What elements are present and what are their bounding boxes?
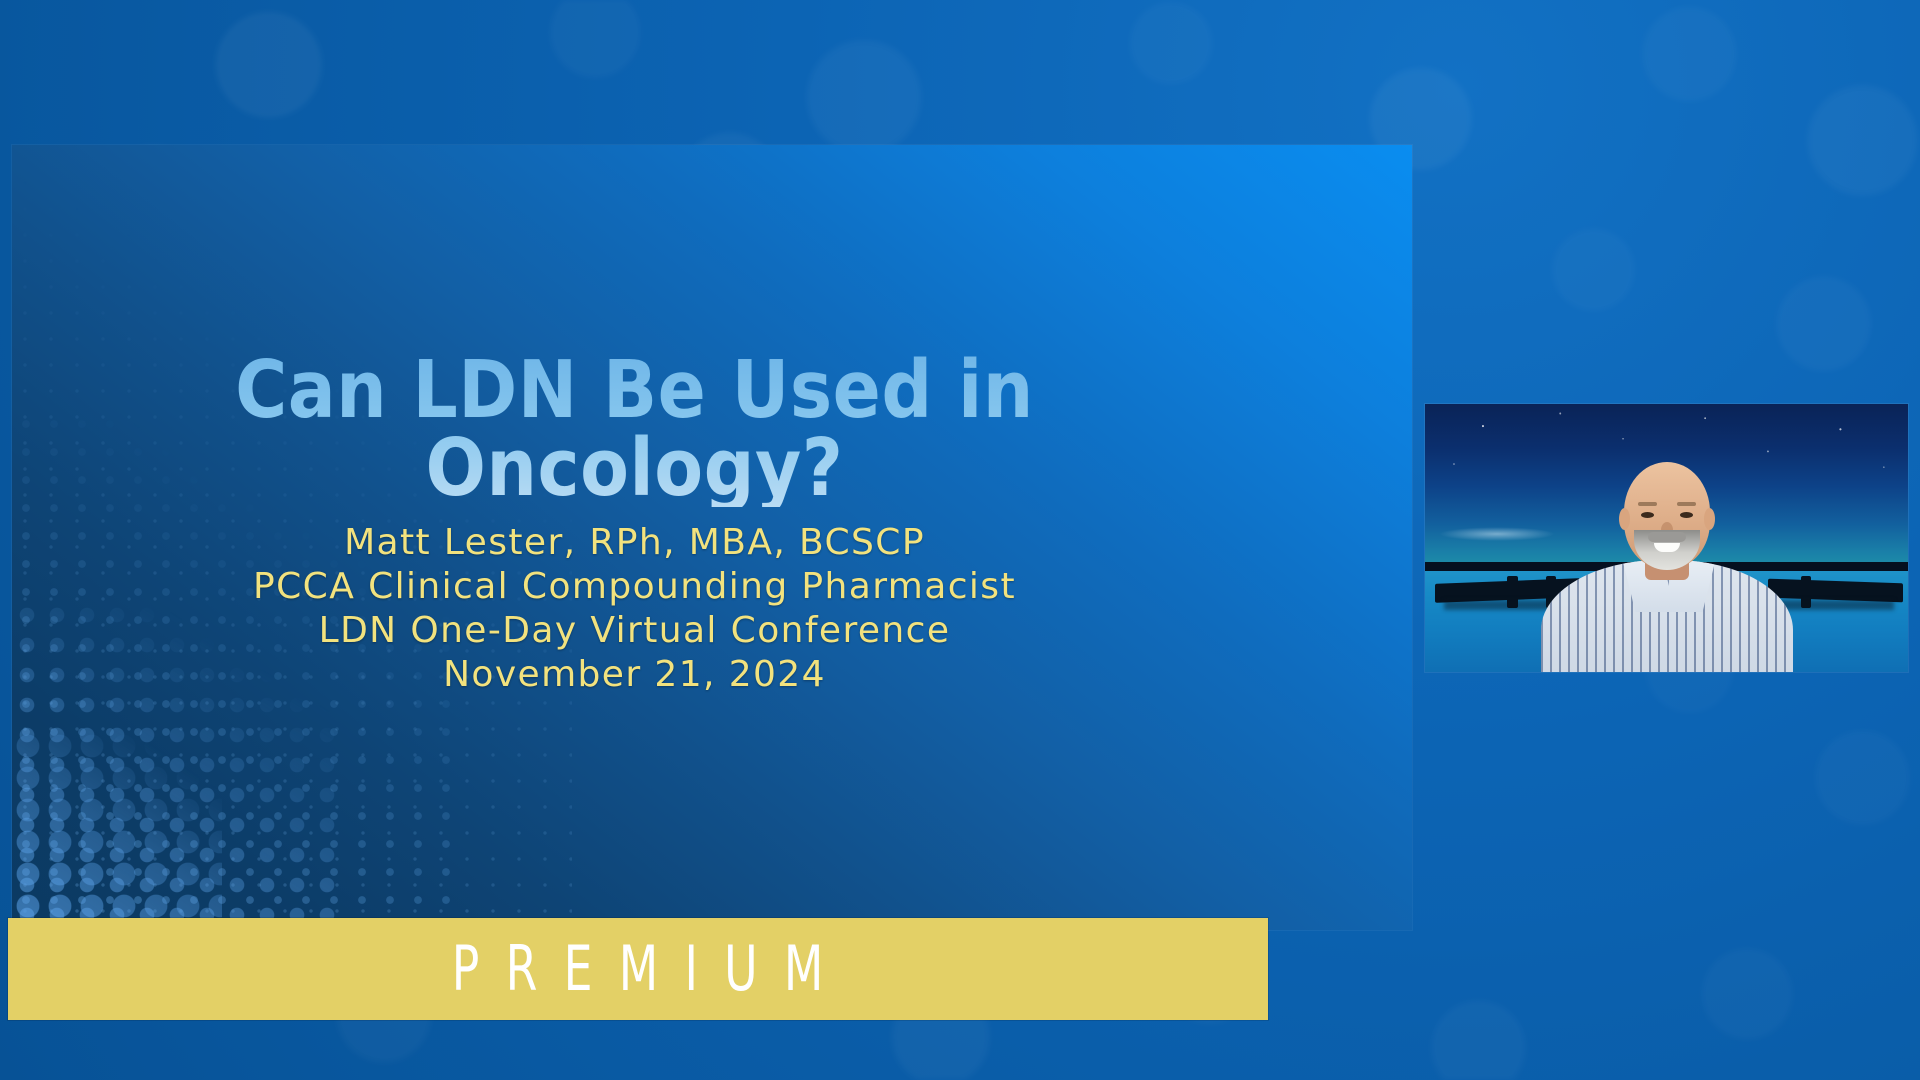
slide-subtitle-presenter: Matt Lester, RPh, MBA, BCSCP	[344, 521, 925, 565]
slide-text-block: Can LDN Be Used in Oncology? Matt Lester…	[12, 145, 1257, 930]
slide-subtitle-date: November 21, 2024	[443, 653, 826, 697]
slide-title: Can LDN Be Used in Oncology?	[115, 351, 1155, 507]
speaker-moustache	[1648, 532, 1686, 542]
speaker-head	[1624, 462, 1710, 568]
slide-subtitle-event: LDN One-Day Virtual Conference	[319, 609, 951, 653]
speaker-brow-right	[1677, 502, 1696, 506]
speaker-eye-left	[1641, 512, 1654, 518]
speaker-video-panel[interactable]	[1425, 404, 1908, 672]
presentation-stage: Can LDN Be Used in Oncology? Matt Lester…	[0, 0, 1920, 1080]
presentation-slide: Can LDN Be Used in Oncology? Matt Lester…	[12, 145, 1412, 930]
slide-subtitle-role: PCCA Clinical Compounding Pharmacist	[253, 565, 1016, 609]
premium-banner-label: PREMIUM	[426, 938, 850, 1000]
speaker-ear-left	[1619, 508, 1630, 530]
speaker-figure	[1537, 472, 1797, 672]
premium-banner: PREMIUM	[8, 918, 1268, 1020]
speaker-ear-right	[1704, 508, 1715, 530]
speaker-brow-left	[1638, 502, 1657, 506]
speaker-eye-right	[1680, 512, 1693, 518]
